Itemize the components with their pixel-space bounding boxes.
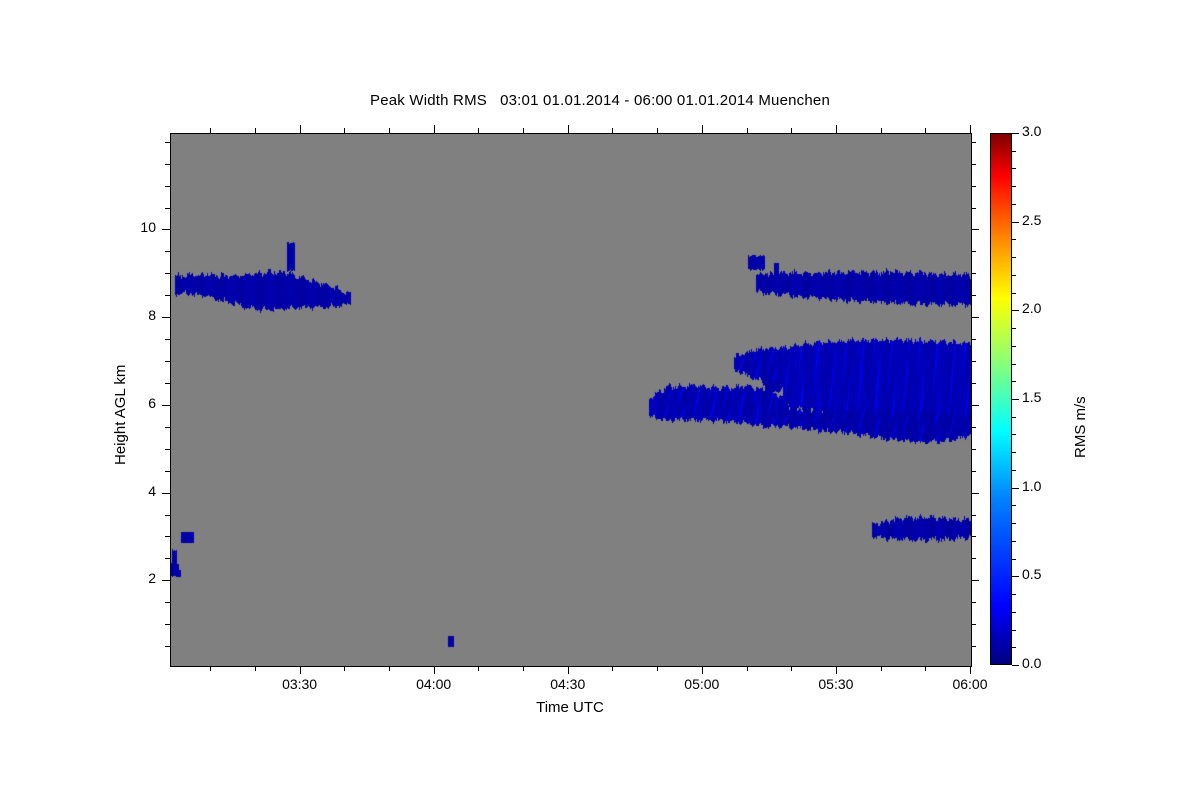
x-tick-top [300, 125, 301, 133]
y-tick-right [971, 624, 976, 625]
colorbar-tick-label-5: 2.5 [1022, 212, 1041, 228]
colorbar-tick [1012, 488, 1019, 489]
colorbar-tick [1012, 239, 1016, 240]
y-tick [165, 251, 170, 252]
x-tick-top [523, 128, 524, 133]
y-tick [162, 317, 170, 318]
heatmap-canvas [171, 134, 971, 666]
x-tick-top [657, 128, 658, 133]
x-tick-top [747, 128, 748, 133]
x-tick-top [881, 128, 882, 133]
y-tick-label-0: 2 [96, 570, 156, 586]
x-tick-top [255, 128, 256, 133]
colorbar-tick-label-6: 3.0 [1022, 123, 1041, 139]
colorbar-tick [1012, 257, 1016, 258]
colorbar-tick [1012, 275, 1016, 276]
y-tick [165, 208, 170, 209]
x-tick [657, 666, 658, 671]
y-tick-right [971, 580, 979, 581]
plot-area [170, 133, 972, 667]
x-tick-top [702, 125, 703, 133]
y-tick-right [971, 186, 976, 187]
colorbar-tick [1012, 328, 1016, 329]
y-tick [165, 471, 170, 472]
colorbar-tick [1012, 505, 1016, 506]
y-tick-right [971, 558, 976, 559]
colorbar-tick [1012, 133, 1019, 134]
x-tick [344, 666, 345, 671]
y-tick [165, 449, 170, 450]
y-tick-right [971, 405, 979, 406]
x-tick-label-5: 06:00 [930, 676, 1010, 692]
x-tick [210, 666, 211, 671]
y-tick [162, 493, 170, 494]
x-tick-top [478, 128, 479, 133]
colorbar-tick [1012, 647, 1016, 648]
y-tick-right [971, 251, 976, 252]
colorbar-tick [1012, 222, 1019, 223]
y-tick [165, 339, 170, 340]
colorbar-tick [1012, 168, 1016, 169]
y-tick-right [971, 164, 976, 165]
x-tick-label-3: 05:00 [662, 676, 742, 692]
colorbar-tick [1012, 630, 1016, 631]
y-tick-right [971, 536, 976, 537]
y-tick [165, 273, 170, 274]
colorbar-tick [1012, 612, 1016, 613]
x-tick [434, 666, 435, 674]
x-tick [970, 666, 971, 674]
colorbar-tick [1012, 576, 1019, 577]
y-tick-right [971, 295, 976, 296]
colorbar-tick [1012, 151, 1016, 152]
colorbar [990, 133, 1012, 665]
colorbar-tick [1012, 310, 1019, 311]
colorbar-tick [1012, 470, 1016, 471]
x-tick [523, 666, 524, 671]
colorbar-tick [1012, 204, 1016, 205]
y-tick-right [971, 339, 976, 340]
x-tick [836, 666, 837, 674]
colorbar-tick-label-1: 0.5 [1022, 566, 1041, 582]
y-tick [165, 602, 170, 603]
y-tick [165, 515, 170, 516]
y-tick [165, 361, 170, 362]
page-title: Peak Width RMS 03:01 01.01.2014 - 06:00 … [0, 92, 1200, 109]
x-tick [881, 666, 882, 671]
x-tick-label-0: 03:30 [260, 676, 340, 692]
x-tick [791, 666, 792, 671]
y-tick [165, 646, 170, 647]
x-tick [255, 666, 256, 671]
colorbar-tick [1012, 186, 1016, 187]
x-tick-label-1: 04:00 [394, 676, 474, 692]
y-tick [162, 229, 170, 230]
x-tick [747, 666, 748, 671]
x-tick-top [389, 128, 390, 133]
y-tick [165, 624, 170, 625]
colorbar-tick-label-3: 1.5 [1022, 389, 1041, 405]
y-tick-right [971, 471, 976, 472]
x-axis-label: Time UTC [170, 699, 970, 716]
y-tick-right [971, 449, 976, 450]
y-tick-right [971, 361, 976, 362]
x-tick-label-4: 05:30 [796, 676, 876, 692]
x-tick-top [925, 128, 926, 133]
y-tick-label-3: 8 [96, 307, 156, 323]
colorbar-tick-label-4: 2.0 [1022, 300, 1041, 316]
x-tick [702, 666, 703, 674]
x-tick [478, 666, 479, 671]
colorbar-tick [1012, 364, 1016, 365]
y-tick-right [971, 602, 976, 603]
colorbar-tick [1012, 665, 1019, 666]
y-tick-label-1: 4 [96, 483, 156, 499]
y-tick-right [971, 273, 976, 274]
y-tick [165, 536, 170, 537]
y-tick [165, 427, 170, 428]
y-axis-label: Height AGL km [112, 365, 129, 465]
colorbar-tick [1012, 293, 1016, 294]
y-tick [162, 580, 170, 581]
colorbar-tick [1012, 541, 1016, 542]
colorbar-tick [1012, 523, 1016, 524]
x-tick-top [210, 128, 211, 133]
x-tick-top [568, 125, 569, 133]
y-tick-right [971, 515, 976, 516]
y-tick-label-4: 10 [96, 219, 156, 235]
colorbar-tick [1012, 381, 1016, 382]
y-tick-right [971, 142, 976, 143]
y-tick-right [971, 383, 976, 384]
x-tick [612, 666, 613, 671]
colorbar-label: RMS m/s [1072, 396, 1089, 458]
x-tick-top [612, 128, 613, 133]
y-tick-right [971, 229, 979, 230]
colorbar-tick [1012, 399, 1019, 400]
y-tick [165, 164, 170, 165]
x-tick [300, 666, 301, 674]
y-tick-right [971, 427, 976, 428]
y-tick [165, 142, 170, 143]
y-tick [165, 186, 170, 187]
y-tick [162, 405, 170, 406]
y-tick [165, 383, 170, 384]
x-tick-top [434, 125, 435, 133]
colorbar-tick [1012, 594, 1016, 595]
colorbar-tick [1012, 559, 1016, 560]
colorbar-tick [1012, 417, 1016, 418]
colorbar-tick [1012, 434, 1016, 435]
colorbar-tick [1012, 346, 1016, 347]
x-tick [389, 666, 390, 671]
x-tick-top [836, 125, 837, 133]
colorbar-tick-label-2: 1.0 [1022, 478, 1041, 494]
x-tick [925, 666, 926, 671]
y-tick-right [971, 493, 979, 494]
y-tick-right [971, 317, 979, 318]
x-tick-top [344, 128, 345, 133]
colorbar-tick-label-0: 0.0 [1022, 655, 1041, 671]
y-tick [165, 558, 170, 559]
x-tick-top [970, 125, 971, 133]
y-tick-right [971, 646, 976, 647]
y-tick [165, 295, 170, 296]
colorbar-gradient [990, 133, 1012, 665]
x-tick-top [791, 128, 792, 133]
x-tick-label-2: 04:30 [528, 676, 608, 692]
colorbar-tick [1012, 452, 1016, 453]
y-tick-right [971, 208, 976, 209]
x-tick [568, 666, 569, 674]
